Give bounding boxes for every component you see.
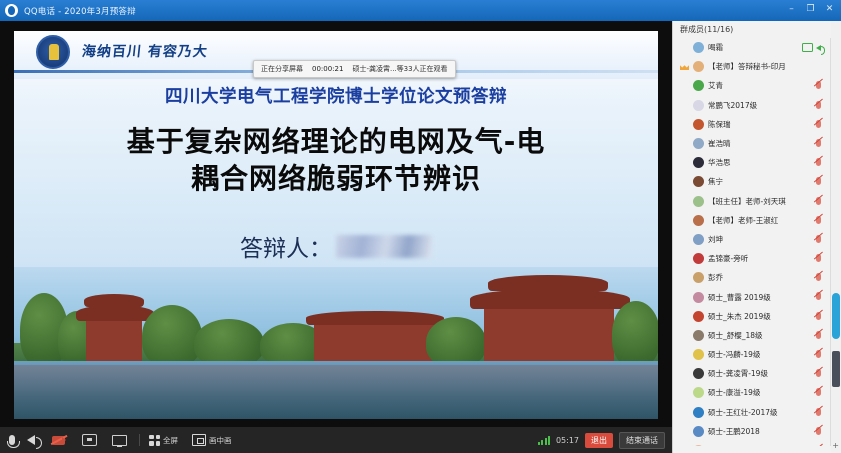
member-status-icons [816,197,821,205]
member-avatar [693,387,704,398]
member-status-icons [816,158,821,166]
member-status-icons [816,312,821,320]
member-name: 【老师】答辩秘书-印月 [708,61,786,72]
member-status-icons [816,81,821,89]
member-row[interactable]: 硕士-冯麟-19级 [673,345,830,364]
tree-6 [426,317,486,367]
speaker-button[interactable] [27,435,38,445]
microphone-muted-icon [816,312,821,320]
speaking-icon [816,45,821,51]
member-row[interactable]: 硕士-康溢-19级 [673,383,830,402]
pavilion-left-roof2 [84,294,144,307]
member-avatar [693,176,704,187]
member-name: 硕士-倪玲芳-2018 [708,445,770,446]
share-status-text: 正在分享屏幕 [261,64,303,74]
member-name: 孟锦豪-旁听 [708,253,748,264]
member-list[interactable]: 喝霜【老师】答辩秘书-印月艾青常鹏飞2017级陈保瑞崔浩晴华浩思焦宁【班主任】老… [673,38,830,446]
water-reflection [14,365,658,419]
host-crown-icon [680,63,689,70]
shared-screen-stage[interactable]: 海纳百川 有容乃大 四川大学电气工程学院博士学位论文预答辩 基于复杂网络理论的电… [0,21,672,427]
member-status-icons [816,120,821,128]
member-avatar [693,61,704,72]
presenter-name-blurred [336,235,432,258]
member-avatar [693,407,704,418]
screen-sharing-icon [802,43,813,52]
member-name: 硕士_曹露 2019级 [708,292,771,303]
microphone-muted-icon [816,254,821,262]
member-status-icons [816,273,821,281]
microphone-muted-icon [816,408,821,416]
member-status-icons [816,388,821,396]
screen-share-status-bar[interactable]: 正在分享屏幕 00:00:21 硕士-龚凌霄...等33人正在观看 [253,60,456,78]
share-screen-button[interactable] [82,434,100,446]
monitor-button[interactable] [112,435,130,446]
member-panel-header: 群成员(11/16) [673,21,841,38]
fullscreen-icon [149,435,160,446]
member-row[interactable]: 艾青 [673,76,830,95]
member-row[interactable]: 刘坤 [673,230,830,249]
member-name: 喝霜 [708,42,723,53]
tree-4 [194,319,264,367]
member-row[interactable]: 常鹏飞2017级 [673,96,830,115]
member-status-icons [816,254,821,262]
member-avatar [693,368,704,379]
window-scroll-thumb-blue[interactable] [832,293,840,339]
thesis-title: 基于复杂网络理论的电网及气-电 耦合网络脆弱环节辨识 [14,123,658,197]
maximize-button[interactable]: ❐ [802,2,819,17]
fullscreen-label: 全屏 [163,435,178,446]
pavilion-right-roof2 [488,275,608,291]
member-avatar [693,100,704,111]
toolbar-divider [139,434,140,446]
microphone-muted-icon [816,197,821,205]
member-name: 崔浩晴 [708,138,731,149]
pavilion-left-body [86,319,142,363]
microphone-muted-icon [816,235,821,243]
microphone-muted-icon [816,369,821,377]
member-name: 硕士-王红壮-2017级 [708,407,778,418]
microphone-icon [9,435,15,445]
member-avatar [693,157,704,168]
microphone-muted-icon [816,292,821,300]
qq-call-window: QQ电话 - 2020年3月预答辩 – ❐ ✕ 海纳百川 有容乃大 四川大学电气… [0,0,841,453]
member-status-icons [816,408,821,416]
member-row[interactable]: 彭乔 [673,268,830,287]
member-avatar [693,119,704,130]
member-row[interactable]: 硕士-王红壮-2017级 [673,403,830,422]
member-row[interactable]: 华浩思 [673,153,830,172]
member-status-icons [816,369,821,377]
member-avatar [693,215,704,226]
member-name: 焦宁 [708,176,723,187]
university-motto: 海纳百川 有容乃大 [81,41,209,61]
member-avatar [693,234,704,245]
fullscreen-button[interactable]: 全屏 [149,435,178,446]
microphone-muted-icon [816,427,821,435]
slide-heading: 四川大学电气工程学院博士学位论文预答辩 [14,83,658,108]
call-timer: 05:17 [556,436,579,445]
microphone-button[interactable] [9,435,18,445]
member-row[interactable]: 硕士_舒樱_18级 [673,326,830,345]
member-name: 刘坤 [708,234,723,245]
member-status-icons [802,43,821,52]
member-name: 艾青 [708,80,723,91]
window-scrollbar[interactable]: + [831,21,841,453]
close-button[interactable]: ✕ [821,2,838,17]
share-viewers-text: 硕士-龚凌霄...等33人正在观看 [352,64,447,74]
microphone-muted-icon [816,177,821,185]
member-name: 硕士-冯麟-19级 [708,349,760,360]
member-status-icons [816,235,821,243]
member-avatar [693,445,704,446]
pavilion-right-roof [470,289,630,309]
member-row[interactable]: 【老师】答辩秘书-印月 [673,57,830,76]
member-status-icons [816,101,821,109]
campus-photo [14,267,658,419]
member-name: 彭乔 [708,272,723,283]
call-status-group: 05:17 退出 结束通话 [538,432,665,449]
member-status-icons [816,427,821,435]
member-avatar [693,272,704,283]
presenter-label: 答辩人： [240,229,332,263]
member-row[interactable]: 焦宁 [673,172,830,191]
member-name: 【班主任】老师-刘天琪 [708,196,786,207]
member-row[interactable]: 【班主任】老师-刘天琪 [673,192,830,211]
share-screen-icon [82,434,97,446]
member-row[interactable]: 孟锦豪-旁听 [673,249,830,268]
share-elapsed-time: 00:00:21 [312,65,343,73]
member-row[interactable]: 陈保瑞 [673,115,830,134]
member-avatar [693,292,704,303]
member-avatar [693,426,704,437]
member-avatar [693,42,704,53]
picture-in-picture-label: 画中画 [209,435,232,446]
member-status-icons [816,292,821,300]
member-avatar [693,80,704,91]
hall-center-body [314,323,434,363]
member-status-icons [816,139,821,147]
member-name: 陈保瑞 [708,119,731,130]
member-avatar [693,349,704,360]
member-avatar [693,330,704,341]
member-row[interactable]: 硕士_曹露 2019级 [673,287,830,306]
minimize-button[interactable]: – [783,2,800,17]
member-row[interactable]: 【老师】老师-王淑红 [673,211,830,230]
member-name: 硕士_朱杰 2019级 [708,311,771,322]
presentation-slide: 海纳百川 有容乃大 四川大学电气工程学院博士学位论文预答辩 基于复杂网络理论的电… [14,31,658,419]
member-name: 硕士-龚凌霄-19级 [708,368,768,379]
microphone-muted-icon [816,388,821,396]
tree-7 [612,301,658,367]
microphone-muted-icon [816,331,821,339]
member-row[interactable]: 硕士-倪玲芳-2018 [673,441,830,446]
member-panel: 群成员(11/16) 喝霜【老师】答辩秘书-印月艾青常鹏飞2017级陈保瑞崔浩晴… [672,21,841,453]
member-status-icons [816,331,821,339]
tree-3 [142,305,202,367]
member-row[interactable]: 硕士_朱杰 2019级 [673,307,830,326]
member-status-icons [816,350,821,358]
speaker-icon [27,435,35,445]
end-call-button[interactable]: 结束通话 [619,432,665,449]
microphone-muted-icon [816,101,821,109]
thesis-title-line1: 基于复杂网络理论的电网及气-电 [14,123,658,160]
camera-button[interactable] [52,436,68,445]
qq-penguin-icon [5,4,18,17]
microphone-muted-icon [816,273,821,281]
thesis-title-line2: 耦合网络脆弱环节辨识 [14,160,658,197]
member-row[interactable]: 崔浩晴 [673,134,830,153]
member-row[interactable]: 喝霜 [673,38,830,57]
member-name: 【老师】老师-王淑红 [708,215,778,226]
pavilion-left-roof [76,305,154,321]
member-avatar [693,253,704,264]
member-status-icons [816,216,821,224]
member-name: 硕士_舒樱_18级 [708,330,763,341]
member-row[interactable]: 硕士-龚凌霄-19级 [673,364,830,383]
camera-off-icon [52,436,65,445]
exit-button[interactable]: 退出 [585,433,613,448]
member-name: 常鹏飞2017级 [708,100,757,111]
signal-strength-icon [538,436,550,445]
call-control-toolbar: 全屏 画中画 05:17 退出 结束通话 [0,427,672,453]
microphone-muted-icon [816,81,821,89]
member-status-icons [816,177,821,185]
monitor-icon [112,435,127,446]
microphone-muted-icon [816,158,821,166]
member-name: 华浩思 [708,157,731,168]
window-titlebar[interactable]: QQ电话 - 2020年3月预答辩 – ❐ ✕ [0,0,841,21]
picture-in-picture-icon [192,434,206,446]
picture-in-picture-button[interactable]: 画中画 [192,434,232,446]
hall-center-roof [306,311,444,325]
zoom-in-icon[interactable]: + [832,441,839,450]
member-avatar [693,138,704,149]
microphone-muted-icon [816,120,821,128]
member-avatar [693,196,704,207]
window-title: QQ电话 - 2020年3月预答辩 [24,5,136,17]
pavilion-right-body [484,307,614,363]
member-name: 硕士-康溢-19级 [708,387,760,398]
window-controls: – ❐ ✕ [783,2,838,17]
member-name: 硕士-王鹏2018 [708,426,760,437]
microphone-muted-icon [816,350,821,358]
window-scroll-thumb-dark[interactable] [832,351,840,387]
member-row[interactable]: 硕士-王鹏2018 [673,422,830,441]
presenter-row: 答辩人： [14,229,658,263]
member-avatar [693,311,704,322]
microphone-muted-icon [816,139,821,147]
microphone-muted-icon [816,216,821,224]
scu-emblem-icon [36,35,70,69]
